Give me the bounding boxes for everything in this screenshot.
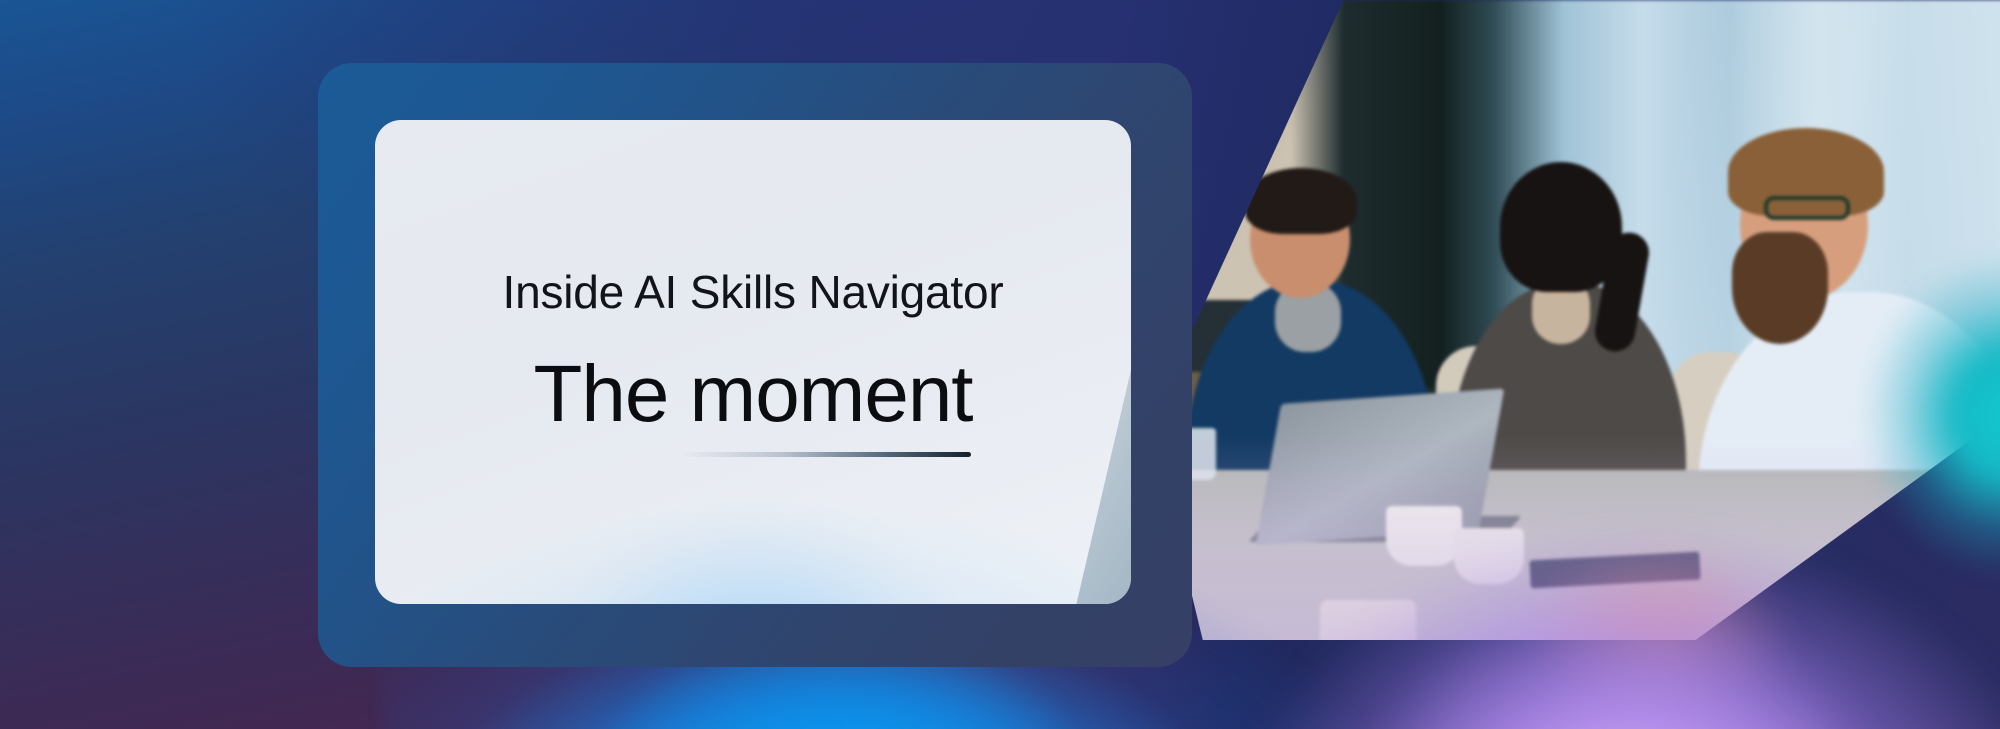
hero-banner: Inside AI Skills Navigator The moment bbox=[0, 0, 2000, 729]
hero-card-content: Inside AI Skills Navigator The moment bbox=[375, 120, 1131, 604]
headline-underline-rule bbox=[681, 452, 971, 457]
headline-block: The moment bbox=[533, 352, 972, 457]
hero-card-inner: Inside AI Skills Navigator The moment bbox=[375, 120, 1131, 604]
glow-lilac-inner bbox=[1360, 539, 1880, 729]
series-eyebrow: Inside AI Skills Navigator bbox=[502, 267, 1003, 318]
page-title: The moment bbox=[533, 352, 972, 436]
